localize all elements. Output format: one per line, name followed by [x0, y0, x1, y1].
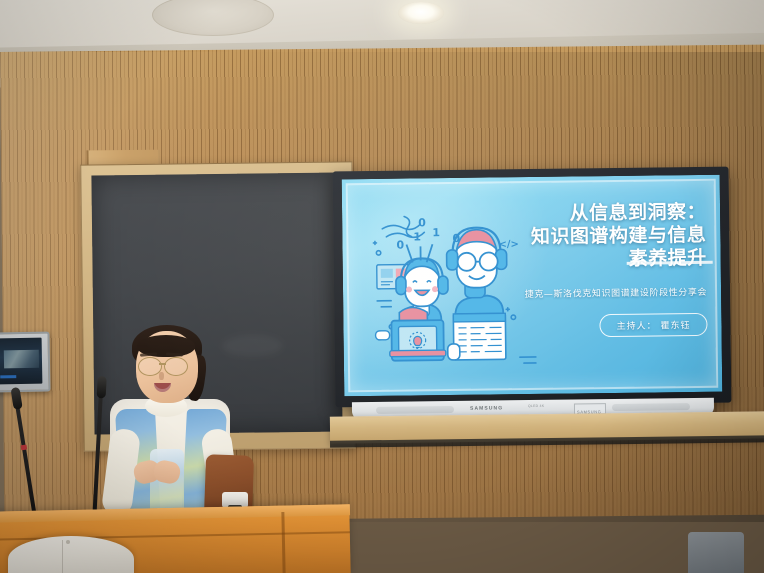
display-speaker-right [612, 403, 690, 411]
wall-monitor-image [4, 350, 39, 369]
svg-text:1: 1 [432, 226, 440, 239]
wall-control-monitor[interactable] [0, 332, 51, 393]
slide-title-line1: 从信息到洞察： [481, 201, 706, 227]
glasses-bridge-icon [159, 363, 166, 365]
slide-title-line3: 素养提升 [629, 247, 707, 271]
svg-text:0: 0 [418, 216, 426, 229]
svg-text:1: 1 [413, 230, 421, 243]
slide-host-badge: 主持人： 瞿东钰 [599, 312, 707, 336]
slide-title: 从信息到洞察： 知识图谱构建与信息 素养提升 [481, 201, 707, 273]
presentation-slide: 0 1 1 0 0 </> [342, 175, 723, 397]
slide-subtitle: 捷克—斯洛伐克知识图谱建设阶段性分享会 [482, 284, 707, 300]
slide-text-block: 从信息到洞察： 知识图谱构建与信息 素养提升 捷克—斯洛伐克知识图谱建设阶段性分… [481, 201, 708, 338]
ceiling-light-icon [398, 2, 444, 24]
wall-monitor-statusbar [0, 375, 16, 378]
wall-monitor-screen [0, 338, 42, 385]
cap-seam [62, 540, 63, 573]
ceiling-speaker-icon [152, 0, 274, 36]
display-speaker-left [376, 406, 454, 414]
slide-title-line2: 知识图谱构建与信息 [481, 224, 706, 250]
lecture-hall-photo: 0 1 1 0 0 </> [0, 0, 764, 573]
display-screen: 0 1 1 0 0 </> [342, 175, 723, 397]
microphone-indicator-light [21, 445, 28, 451]
presentation-display[interactable]: 0 1 1 0 0 </> [333, 167, 732, 408]
microphone-capsule-icon [96, 376, 106, 398]
presenter-nose [159, 372, 164, 380]
chair-right [688, 532, 744, 573]
svg-text:0: 0 [396, 239, 404, 252]
display-spec-text: QLED 4K [528, 404, 544, 408]
cap-button-icon [66, 540, 70, 544]
glasses-lens-right-icon [164, 357, 188, 376]
display-brand-label: SAMSUNG [470, 405, 503, 411]
